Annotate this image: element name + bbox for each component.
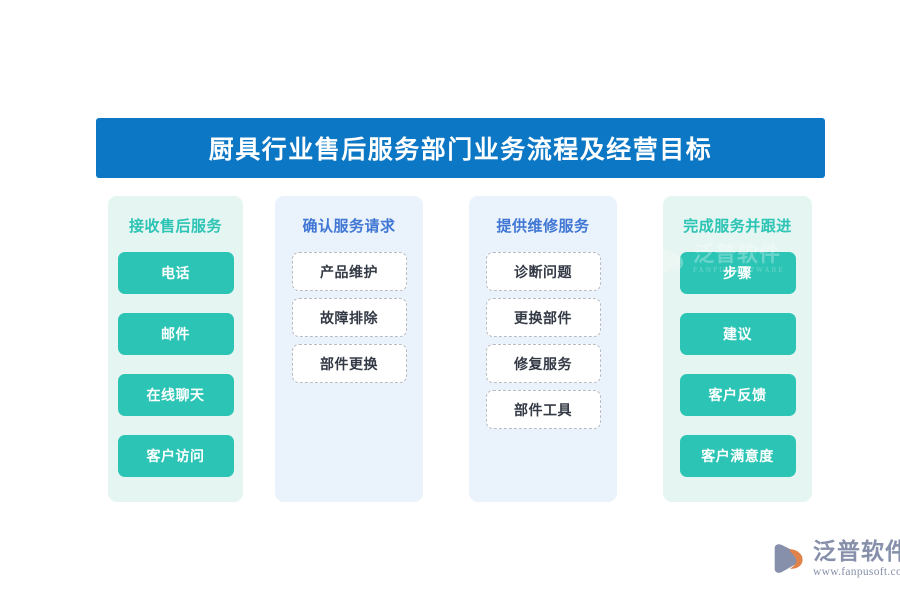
process-item[interactable]: 部件工具	[486, 390, 601, 429]
process-item[interactable]: 电话	[118, 252, 234, 294]
process-item[interactable]: 更换部件	[486, 298, 601, 337]
column-items-2: 产品维护 故障排除 部件更换	[275, 252, 423, 390]
process-item[interactable]: 部件更换	[292, 344, 407, 383]
process-item[interactable]: 故障排除	[292, 298, 407, 337]
process-item[interactable]: 邮件	[118, 313, 234, 355]
diagram-canvas: 厨具行业售后服务部门业务流程及经营目标 接收售后服务 电话 邮件 在线聊天 客户…	[0, 0, 900, 600]
column-items-4: 步骤 建议 客户反馈 客户满意度	[663, 252, 812, 496]
process-column-1: 接收售后服务 电话 邮件 在线聊天 客户访问	[108, 196, 243, 502]
process-item[interactable]: 产品维护	[292, 252, 407, 291]
brand-logo-text: 泛普软件 www.fanpusoft.com	[813, 540, 900, 579]
brand-url: www.fanpusoft.com	[813, 567, 900, 579]
process-column-2: 确认服务请求 产品维护 故障排除 部件更换	[275, 196, 423, 502]
process-item[interactable]: 修复服务	[486, 344, 601, 383]
title-banner: 厨具行业售后服务部门业务流程及经营目标	[96, 118, 825, 178]
process-column-3: 提供维修服务 诊断问题 更换部件 修复服务 部件工具	[469, 196, 617, 502]
column-header-4: 完成服务并跟进	[663, 215, 812, 236]
column-header-3: 提供维修服务	[469, 215, 617, 236]
process-column-4: 完成服务并跟进 步骤 建议 客户反馈 客户满意度	[663, 196, 812, 502]
brand-logo: 泛普软件 www.fanpusoft.com	[772, 540, 900, 579]
column-items-3: 诊断问题 更换部件 修复服务 部件工具	[469, 252, 617, 436]
fanpu-logo-icon	[772, 541, 808, 577]
process-item[interactable]: 客户满意度	[680, 435, 796, 477]
process-item[interactable]: 客户访问	[118, 435, 234, 477]
column-header-2: 确认服务请求	[275, 215, 423, 236]
column-header-1: 接收售后服务	[108, 215, 243, 236]
process-item[interactable]: 在线聊天	[118, 374, 234, 416]
process-item[interactable]: 客户反馈	[680, 374, 796, 416]
column-items-1: 电话 邮件 在线聊天 客户访问	[108, 252, 243, 496]
brand-name-cn: 泛普软件	[813, 540, 900, 563]
process-item[interactable]: 诊断问题	[486, 252, 601, 291]
process-item[interactable]: 建议	[680, 313, 796, 355]
page-title: 厨具行业售后服务部门业务流程及经营目标	[209, 130, 713, 166]
process-item[interactable]: 步骤	[680, 252, 796, 294]
